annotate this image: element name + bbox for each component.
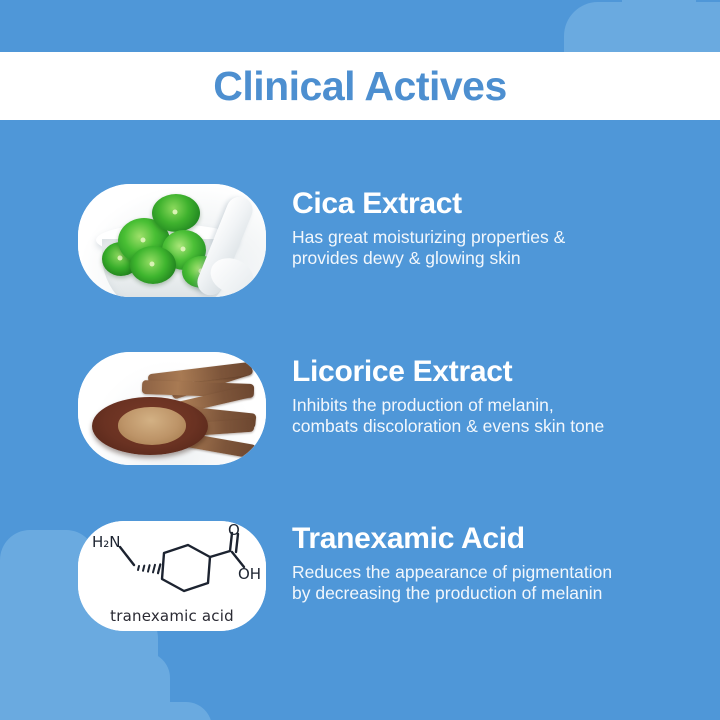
hydroxyl-label: OH [238,565,261,583]
clinical-actives-poster: Clinical Actives Cica Ext [0,0,720,720]
ingredient-description: Reduces the appearance of pigmentation b… [292,562,698,605]
ingredient-copy: Licorice Extract Inhibits the production… [266,352,698,437]
ingredient-copy: Tranexamic Acid Reduces the appearance o… [266,521,698,604]
licorice-roots-powder-bowl-photo [78,352,266,465]
ingredient-description: Inhibits the production of melanin, comb… [292,395,698,438]
ingredient-heading: Tranexamic Acid [292,523,698,555]
amine-label: H₂N [92,533,121,551]
description-line-1: Reduces the appearance of pigmentation [292,562,698,583]
cica-leaves-mortar-pestle-photo [78,184,266,297]
description-line-1: Has great moisturizing properties & [292,227,698,248]
list-item: Licorice Extract Inhibits the production… [78,352,698,465]
ingredient-description: Has great moisturizing properties & prov… [292,227,698,270]
ingredient-list: Cica Extract Has great moisturizing prop… [0,0,720,720]
carbonyl-oxygen-label: O [228,521,240,539]
ingredient-heading: Licorice Extract [292,356,698,388]
description-line-1: Inhibits the production of melanin, [292,395,698,416]
description-line-2: by decreasing the production of melanin [292,583,698,604]
list-item: Cica Extract Has great moisturizing prop… [78,184,698,297]
ingredient-heading: Cica Extract [292,188,698,220]
description-line-2: combats discoloration & evens skin tone [292,416,698,437]
list-item: H₂N O OH tranexamic acid Tranexamic Acid… [78,521,698,631]
tranexamic-acid-chemical-structure: H₂N O OH tranexamic acid [78,521,266,631]
ingredient-copy: Cica Extract Has great moisturizing prop… [266,184,698,269]
formula-caption: tranexamic acid [78,607,266,625]
description-line-2: provides dewy & glowing skin [292,248,698,269]
